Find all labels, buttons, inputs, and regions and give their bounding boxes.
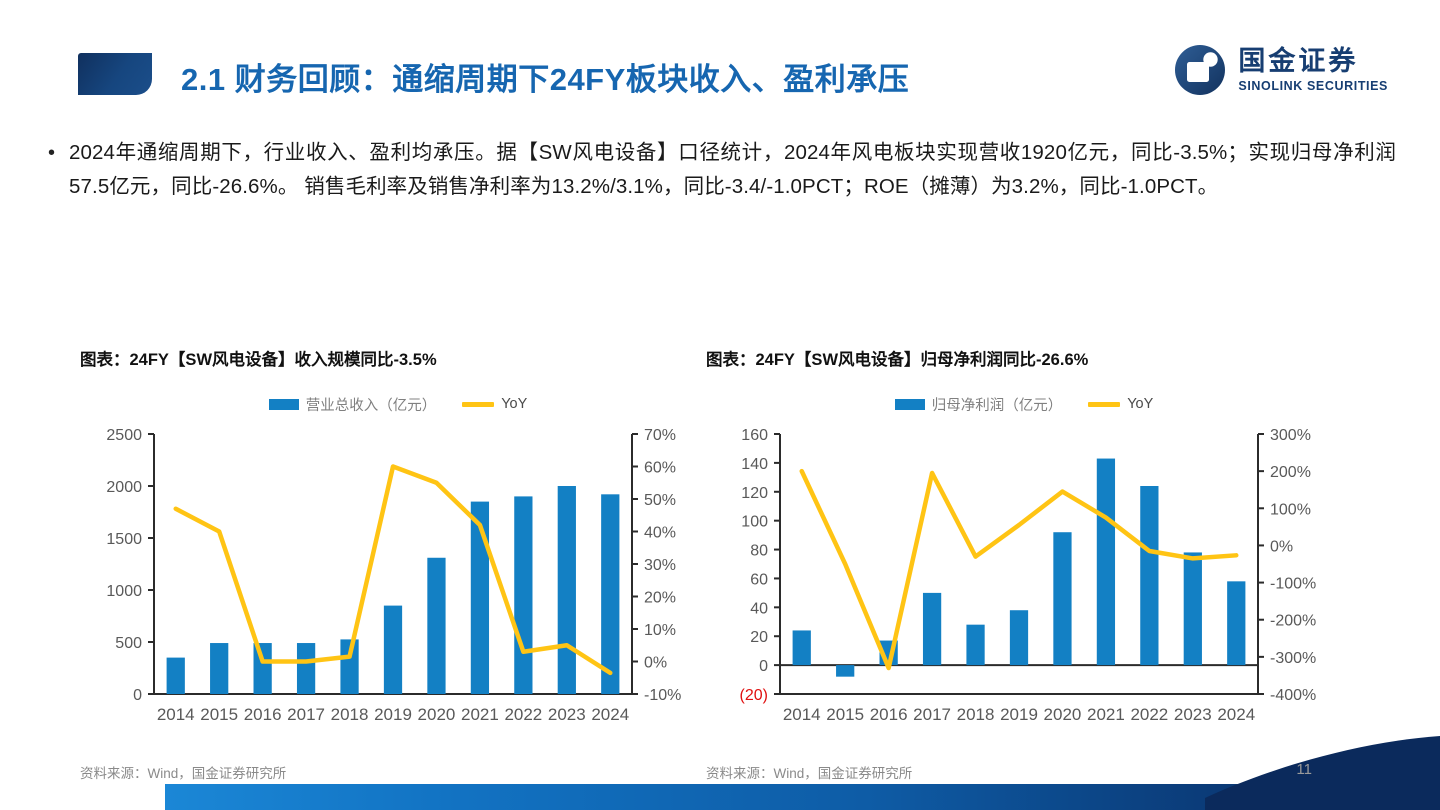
svg-text:(20): (20): [740, 687, 768, 704]
svg-text:2015: 2015: [826, 705, 864, 724]
legend-line-label: YoY: [1127, 396, 1153, 412]
svg-text:30%: 30%: [644, 557, 676, 574]
svg-text:2016: 2016: [870, 705, 908, 724]
svg-text:2020: 2020: [418, 705, 456, 724]
svg-text:2019: 2019: [1000, 705, 1038, 724]
svg-text:40: 40: [750, 600, 768, 617]
title-accent-block: [78, 53, 152, 95]
chart-revenue-caption: 图表：24FY【SW风电设备】收入规模同比-3.5%: [80, 346, 716, 370]
chart-profit-plot: (20)020406080100120140160-400%-300%-200%…: [706, 424, 1342, 754]
svg-text:2024: 2024: [591, 705, 629, 724]
svg-text:2022: 2022: [1130, 705, 1168, 724]
chart-revenue: 图表：24FY【SW风电设备】收入规模同比-3.5% 营业总收入（亿元） YoY…: [80, 346, 716, 788]
svg-text:1500: 1500: [106, 531, 142, 548]
legend-item-line: YoY: [1088, 396, 1153, 412]
logo-text-cn: 国金证券: [1238, 48, 1388, 75]
svg-text:20: 20: [750, 629, 768, 646]
legend-item-line: YoY: [462, 396, 527, 412]
svg-text:-400%: -400%: [1270, 687, 1316, 704]
svg-text:10%: 10%: [644, 622, 676, 639]
chart-revenue-source: 资料来源：Wind，国金证券研究所: [80, 762, 286, 782]
svg-text:2022: 2022: [504, 705, 542, 724]
legend-bar-swatch-icon: [269, 399, 299, 410]
legend-item-bar: 归母净利润（亿元）: [895, 394, 1063, 415]
svg-text:2021: 2021: [461, 705, 499, 724]
svg-text:0: 0: [759, 658, 768, 675]
svg-text:2015: 2015: [200, 705, 238, 724]
sinolink-logo-icon: [1172, 42, 1228, 98]
bullet-marker: •: [48, 136, 55, 204]
legend-bar-label: 营业总收入（亿元）: [306, 394, 437, 415]
svg-text:20%: 20%: [644, 590, 676, 607]
legend-line-swatch-icon: [1088, 402, 1120, 407]
company-logo: 国金证券 SINOLINK SECURITIES: [1172, 42, 1388, 98]
svg-text:1000: 1000: [106, 583, 142, 600]
svg-text:100%: 100%: [1270, 501, 1311, 518]
chart-profit-legend: 归母净利润（亿元） YoY: [706, 394, 1342, 414]
svg-text:-200%: -200%: [1270, 613, 1316, 630]
svg-text:-100%: -100%: [1270, 576, 1316, 593]
svg-text:70%: 70%: [644, 427, 676, 444]
footer-corner-shape: [1205, 736, 1440, 810]
svg-text:2020: 2020: [1044, 705, 1082, 724]
svg-text:2014: 2014: [157, 705, 195, 724]
chart-profit: 图表：24FY【SW风电设备】归母净利润同比-26.6% 归母净利润（亿元） Y…: [706, 346, 1342, 788]
legend-item-bar: 营业总收入（亿元）: [269, 394, 437, 415]
svg-text:200%: 200%: [1270, 464, 1311, 481]
slide-root: 2.1 财务回顾：通缩周期下24FY板块收入、盈利承压 国金证券 SINOLIN…: [0, 0, 1440, 810]
svg-text:50%: 50%: [644, 492, 676, 509]
page-number: 11: [1296, 761, 1312, 778]
legend-line-swatch-icon: [462, 402, 494, 407]
legend-line-label: YoY: [501, 396, 527, 412]
body-text: 2024年通缩周期下，行业收入、盈利均承压。据【SW风电设备】口径统计，2024…: [69, 136, 1396, 204]
logo-text-en: SINOLINK SECURITIES: [1238, 80, 1388, 93]
svg-text:80: 80: [750, 543, 768, 560]
chart-revenue-legend: 营业总收入（亿元） YoY: [80, 394, 716, 414]
svg-text:2500: 2500: [106, 427, 142, 444]
svg-text:2021: 2021: [1087, 705, 1125, 724]
chart-revenue-plot: 05001000150020002500-10%0%10%20%30%40%50…: [80, 424, 716, 754]
svg-text:2000: 2000: [106, 479, 142, 496]
svg-text:2024: 2024: [1217, 705, 1255, 724]
legend-bar-swatch-icon: [895, 399, 925, 410]
svg-text:2018: 2018: [957, 705, 995, 724]
svg-text:-300%: -300%: [1270, 650, 1316, 667]
body-bullet: • 2024年通缩周期下，行业收入、盈利均承压。据【SW风电设备】口径统计，20…: [48, 136, 1396, 204]
svg-text:120: 120: [741, 485, 768, 502]
svg-text:2017: 2017: [287, 705, 325, 724]
chart-profit-caption: 图表：24FY【SW风电设备】归母净利润同比-26.6%: [706, 346, 1342, 370]
svg-text:2014: 2014: [783, 705, 821, 724]
svg-text:2023: 2023: [548, 705, 586, 724]
svg-text:2017: 2017: [913, 705, 951, 724]
svg-text:2023: 2023: [1174, 705, 1212, 724]
page-title: 2.1 财务回顾：通缩周期下24FY板块收入、盈利承压: [181, 54, 909, 99]
svg-text:300%: 300%: [1270, 427, 1311, 444]
chart-profit-source: 资料来源：Wind，国金证券研究所: [706, 762, 912, 782]
svg-text:0: 0: [133, 687, 142, 704]
svg-text:60%: 60%: [644, 460, 676, 477]
svg-text:60: 60: [750, 571, 768, 588]
svg-text:2019: 2019: [374, 705, 412, 724]
svg-text:100: 100: [741, 514, 768, 531]
svg-text:0%: 0%: [644, 655, 667, 672]
svg-text:0%: 0%: [1270, 538, 1293, 555]
svg-text:160: 160: [741, 427, 768, 444]
svg-text:2016: 2016: [244, 705, 282, 724]
svg-text:140: 140: [741, 456, 768, 473]
svg-text:500: 500: [115, 635, 142, 652]
svg-text:40%: 40%: [644, 525, 676, 542]
svg-text:-10%: -10%: [644, 687, 681, 704]
svg-text:2018: 2018: [331, 705, 369, 724]
legend-bar-label: 归母净利润（亿元）: [932, 394, 1063, 415]
